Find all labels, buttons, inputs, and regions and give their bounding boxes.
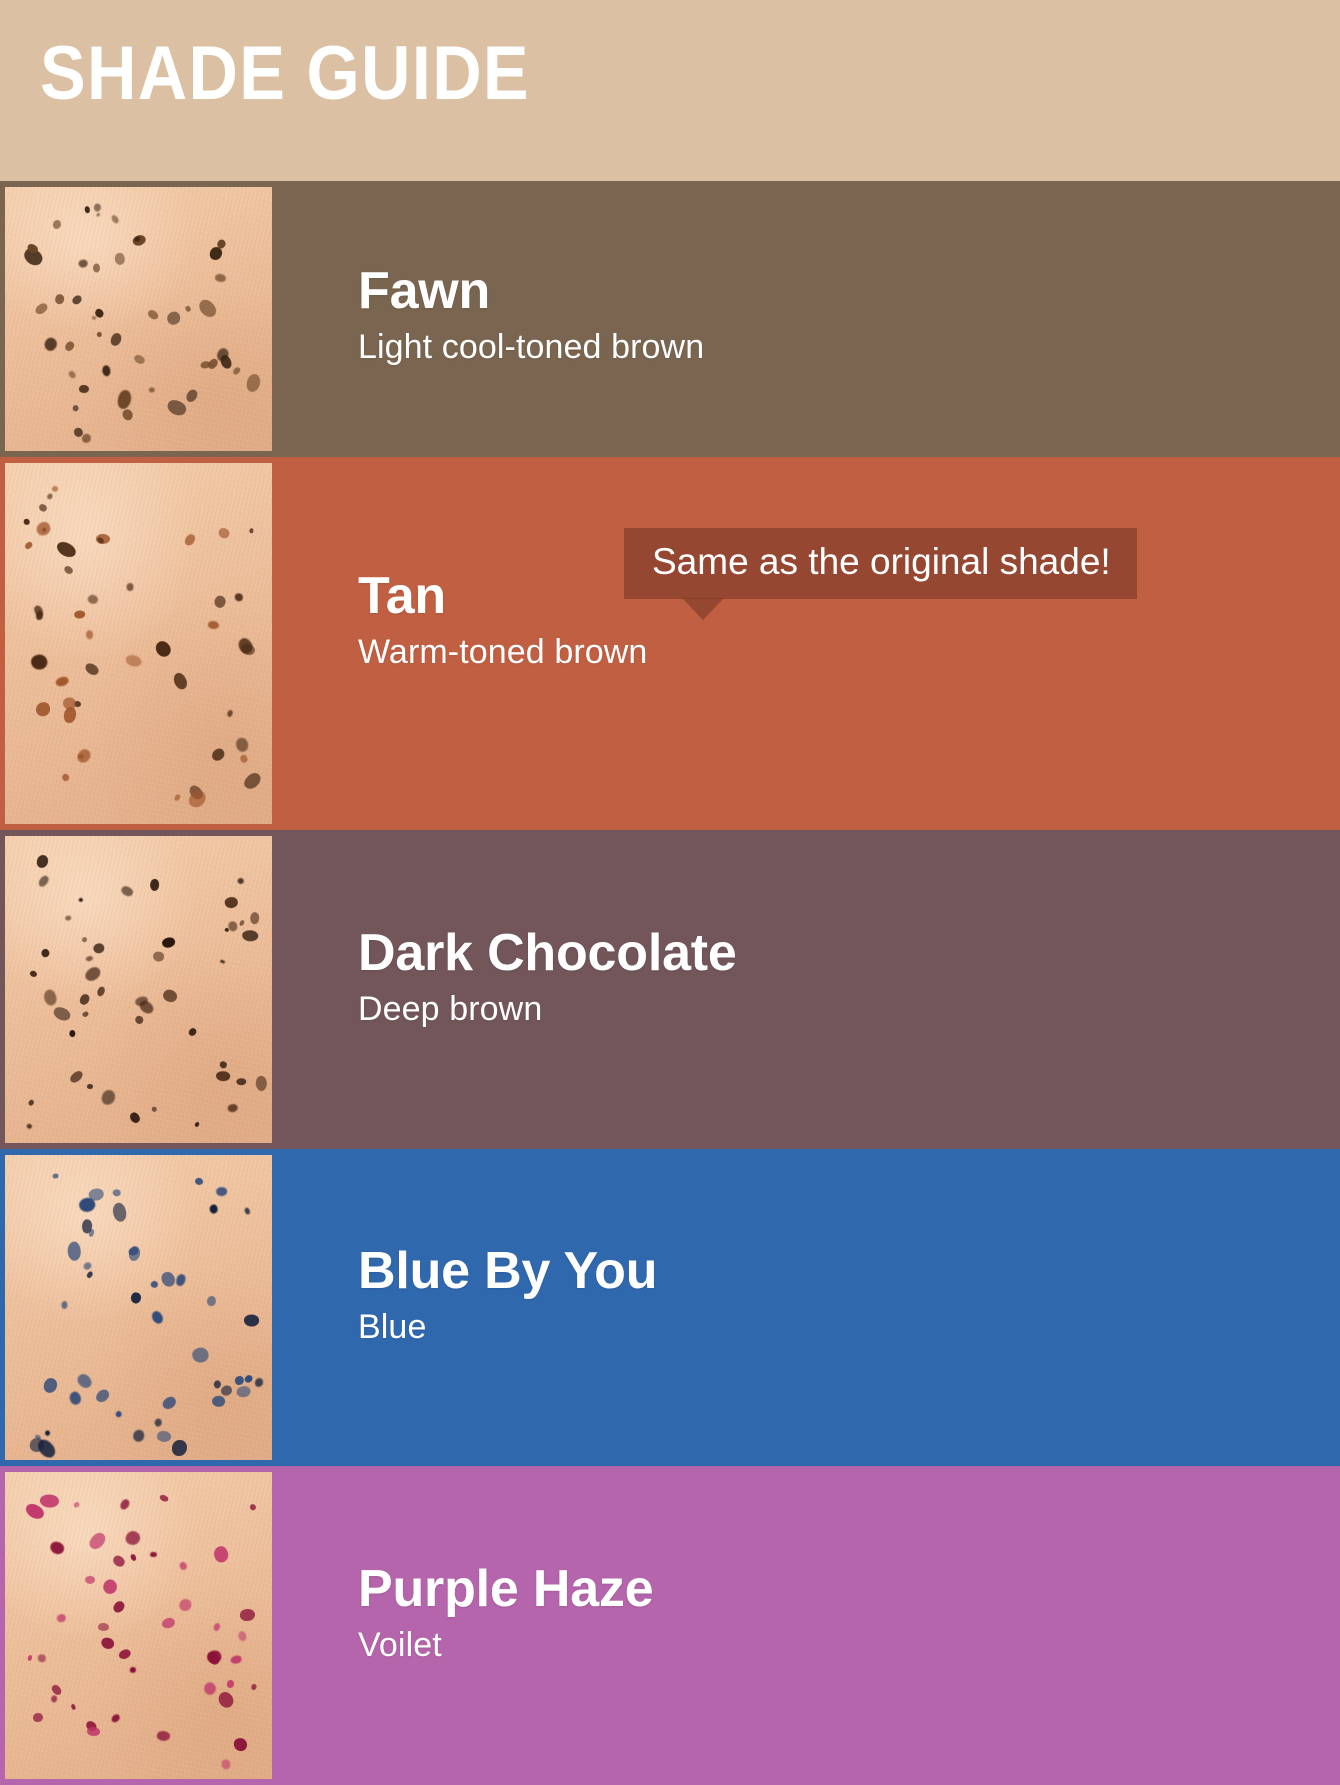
skin-spot: [190, 1345, 210, 1364]
skin-spot: [68, 370, 78, 380]
shade-description: Deep brown: [358, 990, 1300, 1029]
skin-spot: [153, 1418, 163, 1428]
skin-spot: [84, 1575, 95, 1585]
skin-spot: [152, 639, 173, 660]
skin-spot: [44, 1429, 51, 1436]
skin-spot: [52, 1173, 58, 1178]
skin-spot: [92, 941, 106, 955]
skin-spot: [210, 1204, 220, 1214]
skin-spot: [130, 1291, 142, 1304]
skin-spot: [158, 1494, 168, 1503]
skin-spot: [226, 1679, 233, 1687]
shade-name: Blue By You: [358, 1244, 1300, 1298]
skin-spot: [196, 297, 219, 320]
skin-spot: [50, 1694, 58, 1702]
skin-spot: [87, 1530, 108, 1552]
skin-swatch-purple-haze-icon: [5, 1472, 272, 1779]
skin-spot: [249, 527, 254, 533]
skin-spot: [156, 1430, 172, 1444]
skin-spot: [221, 1758, 231, 1769]
skin-spot: [39, 503, 48, 512]
skin-spot: [226, 709, 233, 717]
skin-spot: [55, 540, 78, 560]
skin-spot: [101, 364, 111, 377]
skin-spot: [150, 1309, 166, 1326]
skin-spot: [33, 605, 45, 619]
skin-spot: [227, 1102, 239, 1112]
skin-spot: [34, 520, 53, 538]
skin-spot: [78, 992, 92, 1006]
skin-spot: [41, 336, 59, 354]
skin-spot: [73, 1501, 80, 1508]
skin-spot: [133, 1429, 144, 1441]
skin-spot: [72, 404, 80, 412]
skin-spot: [24, 518, 30, 524]
skin-spot: [194, 1177, 205, 1187]
tooltip-text: Same as the original shade!: [652, 542, 1111, 583]
skin-spot: [124, 1529, 142, 1547]
skin-spot: [93, 1387, 111, 1405]
skin-spot: [68, 1029, 76, 1037]
shade-row[interactable]: TanWarm-toned brownSame as the original …: [0, 457, 1340, 830]
skin-spot: [46, 492, 54, 500]
skin-spot: [219, 1061, 227, 1069]
skin-spots: [5, 187, 272, 451]
skin-spot: [23, 540, 33, 550]
skin-spot: [110, 214, 120, 225]
skin-swatch-blue-by-you-icon: [5, 1155, 272, 1460]
skin-spot: [160, 1394, 177, 1411]
skin-spot: [113, 251, 125, 265]
header-band: SHADE GUIDE: [0, 0, 1340, 181]
skin-spot: [148, 387, 155, 393]
tooltip-pointer: [682, 598, 724, 620]
skin-spot: [149, 1279, 159, 1289]
skin-spot: [172, 1440, 187, 1456]
skin-spot: [243, 1374, 254, 1385]
skin-spot: [96, 212, 101, 217]
skin-spots: [5, 836, 272, 1143]
skin-spot: [128, 1110, 143, 1125]
skin-spot: [179, 1599, 192, 1611]
skin-spot: [235, 1385, 251, 1400]
skin-spot: [135, 1016, 144, 1025]
skin-spot: [216, 1186, 229, 1197]
skin-spots: [5, 463, 272, 824]
skin-spot: [131, 233, 147, 248]
skin-spot: [27, 1654, 32, 1660]
skin-spot: [85, 1270, 94, 1279]
skin-spot: [78, 258, 90, 269]
skin-spot: [43, 1377, 59, 1394]
skin-swatch-dark-chocolate-icon: [5, 836, 272, 1143]
skin-spot: [153, 951, 164, 961]
skin-spot: [249, 1504, 257, 1511]
skin-spot: [27, 1098, 35, 1106]
skin-spot: [232, 366, 242, 376]
shade-text-block: FawnLight cool-toned brown: [358, 264, 1300, 367]
skin-spot: [119, 1498, 131, 1511]
shade-name: Purple Haze: [358, 1562, 1300, 1616]
skin-spot: [86, 1083, 93, 1089]
skin-spot: [29, 970, 38, 979]
skin-spot: [230, 1655, 242, 1664]
skin-spot: [194, 1121, 200, 1127]
skin-spot: [115, 1410, 123, 1418]
skin-spot: [79, 897, 84, 902]
skin-spot: [212, 1544, 231, 1564]
skin-spot: [151, 1106, 157, 1112]
skin-spot: [54, 293, 66, 306]
skin-spot: [161, 1617, 176, 1630]
skin-spot: [220, 959, 226, 964]
skin-spot: [146, 308, 160, 321]
skin-spot: [74, 610, 86, 619]
skin-spot: [48, 1540, 65, 1555]
shade-row[interactable]: Blue By YouBlue: [0, 1149, 1340, 1466]
shade-name: Fawn: [358, 264, 1300, 318]
skin-spot: [124, 654, 142, 668]
skin-spot: [243, 931, 259, 942]
skin-spot: [187, 1027, 197, 1038]
skin-spot: [239, 754, 248, 763]
skin-spot: [70, 1703, 76, 1710]
skin-spot: [166, 397, 189, 416]
skin-spot: [101, 1637, 116, 1651]
skin-spot: [57, 1614, 67, 1623]
skin-spot: [67, 1241, 82, 1261]
skin-spot: [235, 594, 243, 602]
skin-spot: [213, 1623, 222, 1633]
skin-spot: [173, 794, 180, 802]
skin-spot: [100, 1577, 120, 1597]
shade-description: Light cool-toned brown: [358, 328, 1300, 367]
skin-spot: [36, 874, 50, 888]
skin-spot: [255, 1076, 267, 1091]
skin-spot: [30, 652, 49, 671]
skin-spot: [205, 1648, 224, 1666]
skin-spot: [82, 434, 91, 443]
skin-spot: [83, 661, 100, 676]
skin-spot: [236, 1630, 248, 1643]
skin-spot: [128, 1245, 141, 1261]
shade-row[interactable]: FawnLight cool-toned brown: [0, 181, 1340, 457]
skin-spot: [216, 1071, 231, 1081]
skin-spot: [61, 772, 71, 782]
skin-swatch-tan-icon: [5, 463, 272, 824]
skin-spot: [210, 746, 227, 762]
skin-spot: [160, 1271, 177, 1289]
skin-spot: [246, 373, 262, 393]
skin-spot: [37, 1654, 46, 1662]
skin-spot: [39, 947, 51, 959]
skin-spot: [161, 988, 180, 1006]
skin-spot: [150, 1552, 157, 1558]
skin-spot: [133, 353, 146, 364]
shade-row[interactable]: Dark ChocolateDeep brown: [0, 830, 1340, 1149]
skin-spot: [121, 884, 135, 897]
skin-spot: [86, 631, 93, 640]
skin-spot: [109, 331, 123, 347]
skin-spot: [156, 1730, 171, 1742]
skin-spot: [116, 390, 131, 410]
skin-spot: [240, 1608, 255, 1620]
skin-spot: [236, 738, 249, 753]
skin-spot: [34, 301, 50, 316]
page-title: SHADE GUIDE: [40, 36, 530, 112]
skin-spot: [92, 315, 97, 320]
skin-spot: [208, 620, 220, 630]
shade-row-list: FawnLight cool-toned brownTanWarm-toned …: [0, 181, 1340, 1785]
skin-spot: [69, 1069, 85, 1085]
skin-spot: [178, 1561, 188, 1571]
skin-spot: [86, 1726, 100, 1737]
skin-spot: [202, 1681, 219, 1698]
skin-spot: [121, 409, 133, 422]
skin-spot: [171, 671, 190, 692]
skin-spot: [78, 384, 89, 394]
shade-description: Blue: [358, 1308, 1300, 1347]
skin-spot: [52, 220, 61, 230]
skin-spot: [234, 1375, 243, 1384]
skin-spot: [36, 702, 50, 716]
skin-spot: [233, 1738, 247, 1752]
skin-spot: [212, 594, 227, 609]
skin-spot: [85, 955, 93, 962]
skin-spot: [113, 1189, 122, 1197]
skin-spot: [52, 1005, 72, 1022]
skin-spots: [5, 1472, 272, 1779]
skin-spot: [175, 1273, 188, 1287]
skin-spot: [70, 293, 83, 306]
skin-spot: [60, 1301, 67, 1309]
skin-spot: [82, 937, 87, 942]
skin-spot: [26, 1123, 33, 1130]
skin-spot: [63, 697, 76, 709]
skin-spot: [63, 565, 74, 575]
skin-spot: [166, 311, 181, 325]
shade-description: Voilet: [358, 1626, 1300, 1665]
skin-spot: [249, 912, 259, 925]
skin-spot: [82, 1011, 90, 1018]
shade-text-block: Dark ChocolateDeep brown: [358, 926, 1300, 1029]
skin-spot: [86, 593, 99, 605]
skin-spot: [130, 1666, 138, 1673]
skin-spot: [117, 1648, 131, 1660]
skin-spot: [241, 770, 263, 792]
skin-spot: [92, 202, 102, 212]
skin-spot: [82, 1260, 93, 1271]
skin-spot: [182, 532, 197, 547]
skin-spot: [218, 527, 231, 540]
skin-spot: [238, 920, 244, 927]
skin-spot: [51, 485, 60, 494]
skin-spot: [214, 273, 226, 283]
skin-spot: [111, 1599, 126, 1614]
skin-spot: [110, 1713, 121, 1724]
skin-spot: [101, 1089, 117, 1106]
skin-spot: [220, 1385, 233, 1397]
skin-spot: [83, 965, 103, 984]
skin-spot: [254, 1377, 264, 1388]
skin-spot: [98, 1622, 109, 1631]
shade-description: Warm-toned brown: [358, 633, 1300, 672]
skin-spot: [224, 896, 239, 909]
skin-spot: [41, 1494, 60, 1508]
skin-spot: [149, 879, 159, 891]
skin-spot: [229, 921, 238, 931]
skin-spot: [137, 999, 155, 1016]
shade-row[interactable]: Purple HazeVoilet: [0, 1466, 1340, 1785]
skin-spot: [207, 1295, 217, 1306]
skin-spot: [84, 206, 89, 213]
skin-spot: [130, 1553, 137, 1561]
skin-spot: [42, 988, 59, 1007]
skin-spot: [161, 935, 176, 948]
tooltip-callout: Same as the original shade!: [624, 528, 1137, 599]
skin-spot: [55, 675, 70, 688]
skin-spot: [127, 583, 134, 592]
skin-spot: [65, 915, 72, 921]
skin-spot: [237, 877, 245, 885]
skin-spot: [244, 1207, 251, 1215]
shade-guide-poster: SHADE GUIDE FawnLight cool-toned brownTa…: [0, 0, 1340, 1785]
skin-spot: [68, 1390, 83, 1406]
skin-spot: [111, 1201, 129, 1223]
skin-spot: [250, 1683, 257, 1690]
skin-spot: [36, 854, 49, 868]
skin-spot: [184, 387, 200, 404]
skin-spot: [63, 706, 77, 724]
skin-spots: [5, 1155, 272, 1460]
skin-spot: [96, 986, 107, 998]
skin-spot: [111, 1554, 126, 1569]
skin-spot: [75, 1372, 94, 1391]
skin-spot: [244, 1314, 260, 1327]
shade-text-block: Purple HazeVoilet: [358, 1562, 1300, 1665]
shade-text-block: Blue By YouBlue: [358, 1244, 1300, 1347]
shade-name: Dark Chocolate: [358, 926, 1300, 980]
skin-spot: [33, 1713, 43, 1723]
skin-spot: [92, 264, 100, 274]
skin-spot: [216, 1690, 237, 1711]
skin-spot: [64, 339, 76, 351]
skin-swatch-fawn-icon: [5, 187, 272, 451]
skin-spot: [237, 1078, 247, 1086]
skin-spot: [96, 332, 103, 339]
skin-spot: [212, 1395, 226, 1408]
skin-spot: [185, 305, 192, 312]
